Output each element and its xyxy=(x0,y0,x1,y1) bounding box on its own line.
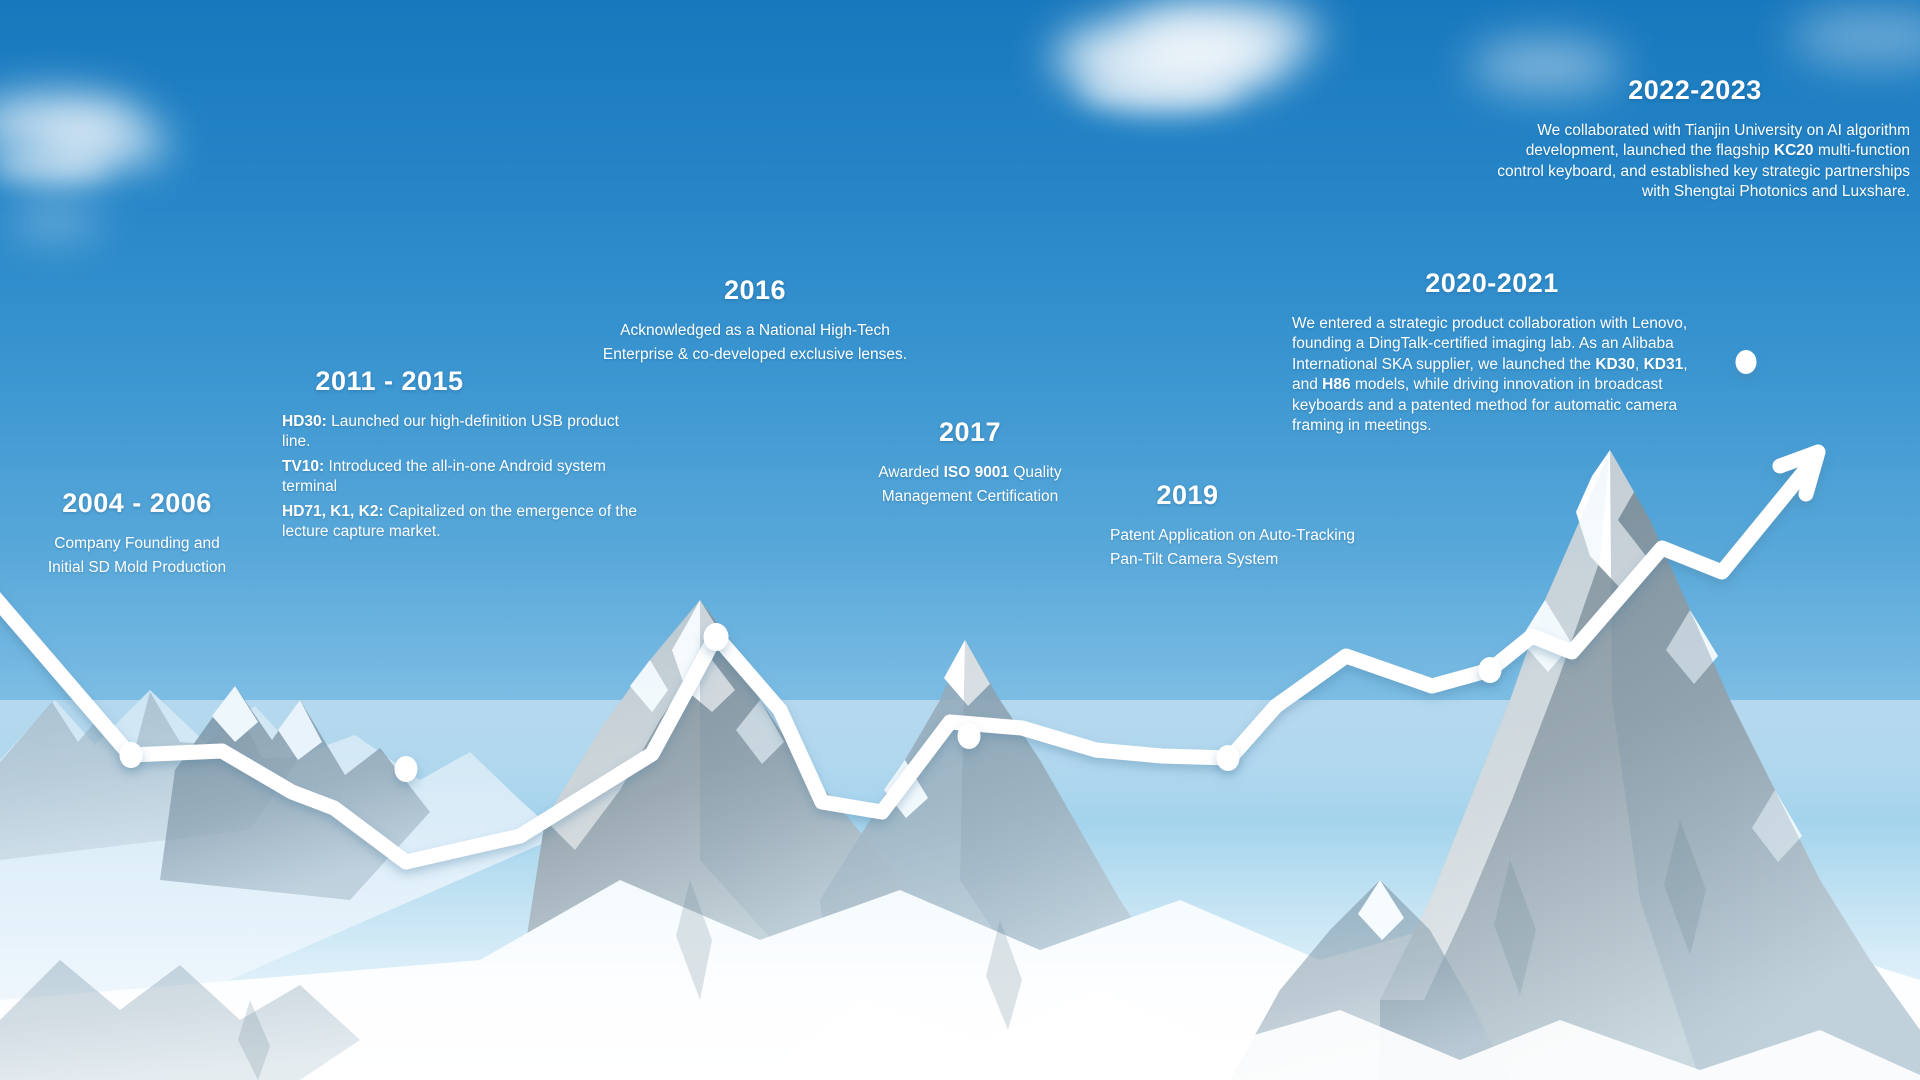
emphasis-text: HD30: xyxy=(282,413,327,430)
milestone-year-2016: 2016 xyxy=(545,275,965,306)
milestone-paragraph: TV10: Introduced the all-in-one Android … xyxy=(282,457,642,498)
milestone-paragraph: Acknowledged as a National High-Tech xyxy=(545,321,965,341)
milestone-2017[interactable]: 2017 Awarded ISO 9001 QualityManagement … xyxy=(830,417,1110,508)
node-2017[interactable] xyxy=(958,723,981,749)
emphasis-text: KD31 xyxy=(1644,356,1684,373)
node-2004-2006[interactable] xyxy=(120,742,143,768)
milestone-2019[interactable]: 2019 Patent Application on Auto-Tracking… xyxy=(1110,480,1440,571)
milestone-2022-2023[interactable]: 2022-2023 We collaborated with Tianjin U… xyxy=(1480,75,1910,203)
emphasis-text: HD71, K1, K2: xyxy=(282,503,384,520)
milestone-body-2016: Acknowledged as a National High-TechEnte… xyxy=(545,321,965,366)
milestone-2004-2006[interactable]: 2004 - 2006 Company Founding andInitial … xyxy=(12,488,262,579)
milestone-body-2017: Awarded ISO 9001 QualityManagement Certi… xyxy=(830,463,1110,508)
milestone-body-2019: Patent Application on Auto-TrackingPan-T… xyxy=(1110,526,1440,571)
node-2019[interactable] xyxy=(1217,745,1240,771)
milestone-paragraph: Initial SD Mold Production xyxy=(12,558,262,578)
milestone-2016[interactable]: 2016 Acknowledged as a National High-Tec… xyxy=(545,275,965,366)
timeline-canvas: 2004 - 2006 Company Founding andInitial … xyxy=(0,0,1920,1080)
milestone-paragraph: Management Certification xyxy=(830,487,1110,507)
milestone-2011-2015[interactable]: 2011 - 2015 HD30: Launched our high-defi… xyxy=(282,366,642,543)
milestone-year-2011-2015: 2011 - 2015 xyxy=(282,366,497,397)
node-2016[interactable] xyxy=(704,623,729,651)
milestone-year-2022-2023: 2022-2023 xyxy=(1480,75,1910,106)
milestone-year-2017: 2017 xyxy=(830,417,1110,448)
milestone-paragraph: Enterprise & co-developed exclusive lens… xyxy=(545,345,965,365)
milestone-paragraph: HD71, K1, K2: Capitalized on the emergen… xyxy=(282,502,642,543)
milestone-paragraph: HD30: Launched our high-definition USB p… xyxy=(282,412,642,453)
node-2022-2023[interactable] xyxy=(1736,350,1757,374)
milestone-2020-2021[interactable]: 2020-2021 We entered a strategic product… xyxy=(1292,268,1692,437)
node-2011-2015[interactable] xyxy=(395,756,418,782)
emphasis-text: ISO 9001 xyxy=(944,464,1010,481)
growth-polyline xyxy=(0,452,1818,862)
emphasis-text: KD30 xyxy=(1595,356,1635,373)
milestone-paragraph: We entered a strategic product collabora… xyxy=(1292,314,1692,437)
emphasis-text: H86 xyxy=(1322,376,1350,393)
emphasis-text: KC20 xyxy=(1774,142,1814,159)
milestone-body-2011-2015: HD30: Launched our high-definition USB p… xyxy=(282,412,642,543)
milestone-year-2020-2021: 2020-2021 xyxy=(1292,268,1692,299)
milestone-paragraph: Patent Application on Auto-Tracking xyxy=(1110,526,1440,546)
milestone-paragraph: Pan-Tilt Camera System xyxy=(1110,550,1440,570)
milestone-year-2019: 2019 xyxy=(1110,480,1265,511)
milestone-paragraph: We collaborated with Tianjin University … xyxy=(1480,121,1910,203)
milestone-year-2004-2006: 2004 - 2006 xyxy=(12,488,262,519)
emphasis-text: TV10: xyxy=(282,458,324,475)
milestone-body-2022-2023: We collaborated with Tianjin University … xyxy=(1480,121,1910,203)
node-2020-2021[interactable] xyxy=(1479,657,1502,683)
milestone-body-2004-2006: Company Founding andInitial SD Mold Prod… xyxy=(12,534,262,579)
milestone-body-2020-2021: We entered a strategic product collabora… xyxy=(1292,314,1692,437)
milestone-paragraph: Company Founding and xyxy=(12,534,262,554)
milestone-paragraph: Awarded ISO 9001 Quality xyxy=(830,463,1110,483)
